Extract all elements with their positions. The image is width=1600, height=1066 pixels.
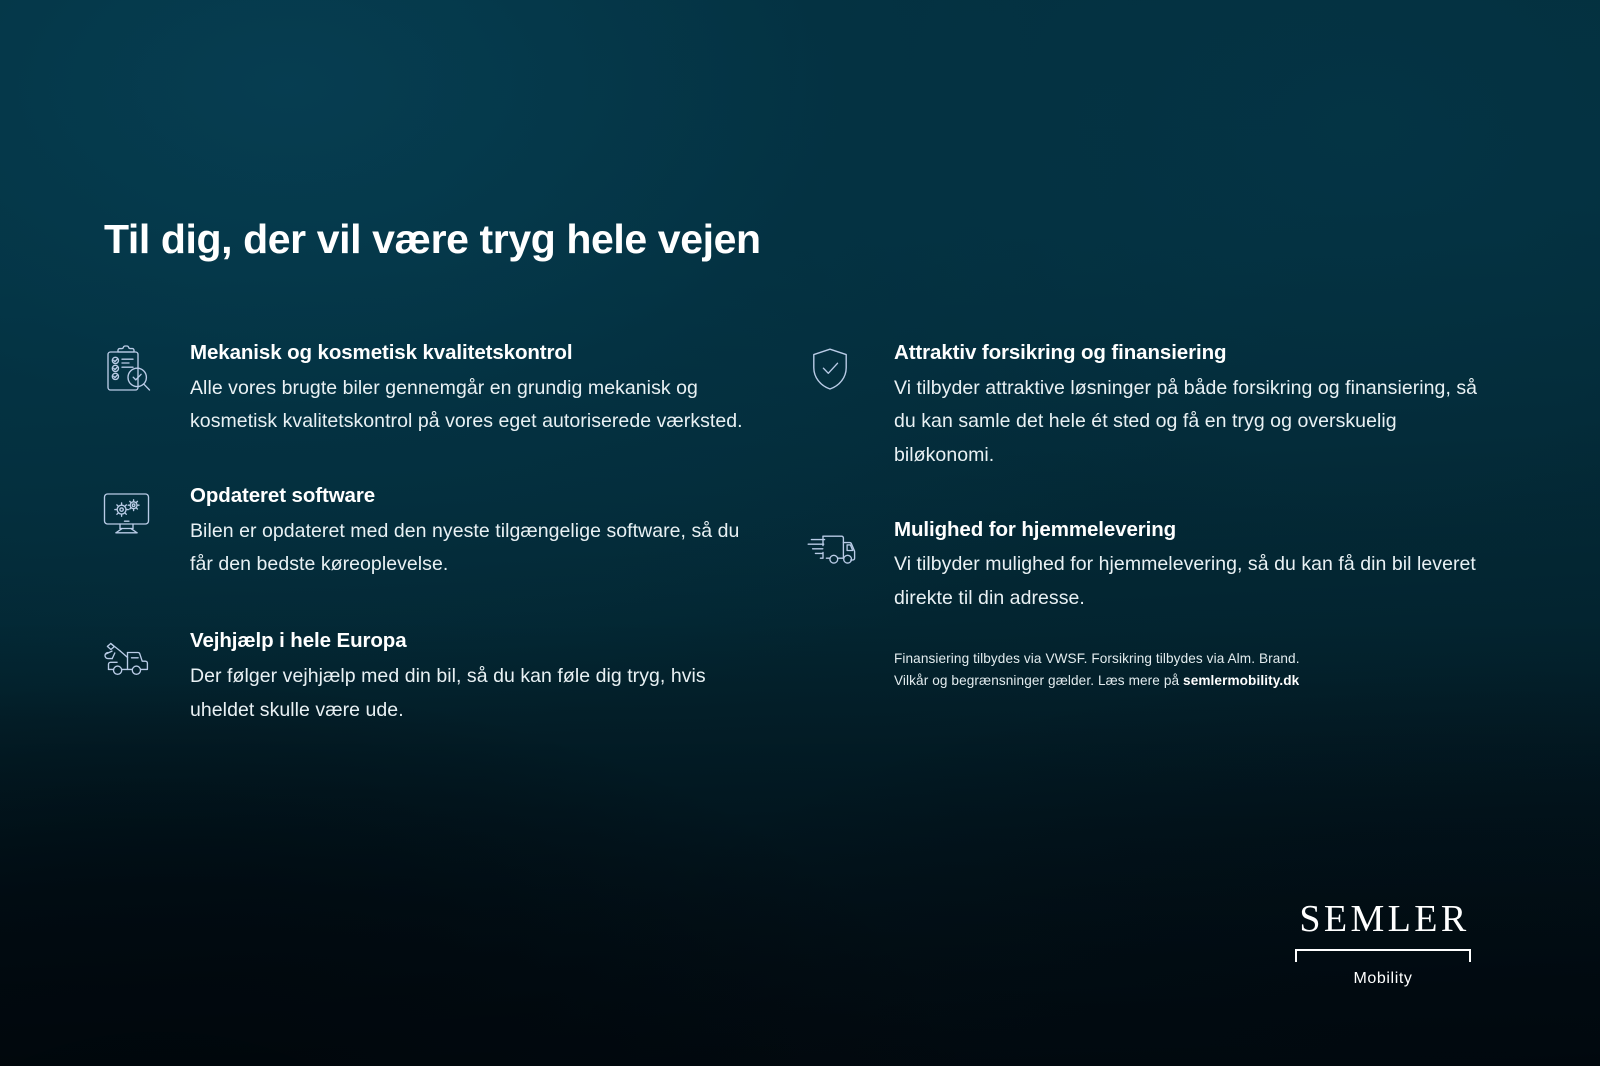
promo-banner: Til dig, der vil være tryg hele vejen: [0, 0, 1600, 1066]
feature-title: Vejhjælp i hele Europa: [190, 628, 750, 654]
feature-title: Mekanisk og kosmetisk kvalitetskontrol: [190, 340, 750, 366]
disclaimer-line-2: Vilkår og begrænsninger gælder. Læs mere…: [894, 670, 1454, 692]
feature-item-roadside-assistance: Vejhjælp i hele Europa Der følger vejhjæ…: [100, 628, 750, 727]
feature-body: Bilen er opdateret med den nyeste tilgæn…: [190, 515, 750, 582]
feature-item-updated-software: Opdateret software Bilen er opdateret me…: [100, 483, 750, 582]
feature-body: Alle vores brugte biler gennemgår en gru…: [190, 372, 750, 439]
feature-item-home-delivery: Mulighed for hjemmelevering Vi tilbyder …: [804, 517, 1494, 616]
feature-body: Vi tilbyder attraktive løsninger på både…: [894, 372, 1479, 473]
logo-subtitle: Mobility: [1290, 970, 1476, 988]
feature-title: Mulighed for hjemmelevering: [894, 517, 1494, 543]
logo-divider-rule: [1295, 949, 1471, 963]
logo-wordmark: SEMLER: [1290, 900, 1476, 938]
feature-item-quality-control: Mekanisk og kosmetisk kvalitetskontrol A…: [100, 340, 750, 439]
feature-column-right: Attraktiv forsikring og finansiering Vi …: [804, 340, 1494, 692]
feature-title: Attraktiv forsikring og finansiering: [894, 340, 1494, 366]
feature-item-insurance-financing: Attraktiv forsikring og finansiering Vi …: [804, 340, 1494, 473]
delivery-truck-icon: [804, 521, 862, 573]
feature-body: Vi tilbyder mulighed for hjemmelevering,…: [894, 548, 1479, 615]
feature-title: Opdateret software: [190, 483, 750, 509]
page-title: Til dig, der vil være tryg hele vejen: [104, 217, 761, 263]
feature-column-left: Mekanisk og kosmetisk kvalitetskontrol A…: [100, 340, 750, 765]
shield-check-icon: [804, 344, 862, 396]
monitor-gears-icon: [100, 487, 158, 539]
semler-mobility-logo: SEMLER Mobility: [1290, 900, 1476, 988]
tow-truck-icon: [100, 632, 158, 684]
disclaimer-line-2-text: Vilkår og begrænsninger gælder. Læs mere…: [894, 673, 1183, 688]
semlermobility-link[interactable]: semlermobility.dk: [1183, 673, 1299, 688]
feature-body: Der følger vejhjælp med din bil, så du k…: [190, 660, 750, 727]
clipboard-checklist-magnifier-icon: [100, 344, 158, 396]
disclaimer-line-1: Finansiering tilbydes via VWSF. Forsikri…: [894, 648, 1454, 670]
legal-disclaimer: Finansiering tilbydes via VWSF. Forsikri…: [804, 648, 1454, 692]
